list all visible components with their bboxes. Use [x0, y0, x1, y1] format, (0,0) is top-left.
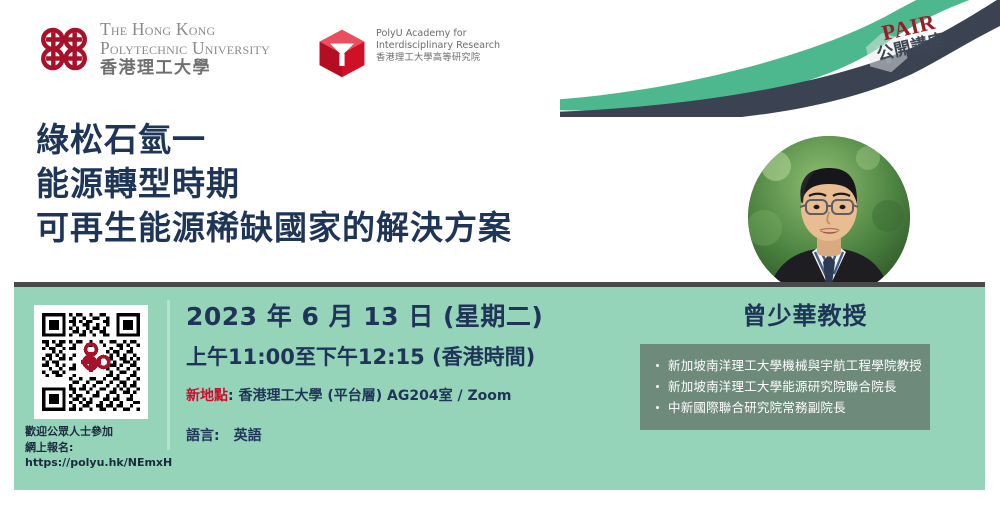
pair-academy-text: PolyU Academy for Interdisciplinary Rese…: [376, 28, 506, 63]
speaker-credential-item: 新加坡南洋理工大學能源研究院聯合院長: [654, 376, 920, 397]
title-line-3: 可再生能源稀缺國家的解決方案: [36, 206, 636, 250]
title-line-1: 綠松石氫一: [36, 118, 636, 162]
speaker-credential-item: 中新國際聯合研究院常務副院長: [654, 397, 920, 418]
polyu-logo-text: The Hong Kong Polytechnic University 香港理…: [100, 20, 300, 79]
pair-academy-line1: PolyU Academy for: [376, 28, 506, 40]
registration-caption: 歡迎公眾人士參加 網上報名: https://polyu.hk/NEmxH: [25, 424, 175, 471]
polyu-logo: The Hong Kong Polytechnic University 香港理…: [36, 20, 298, 80]
event-language: 語言:英語: [186, 426, 626, 446]
venue-label: 新地點: [186, 388, 228, 404]
speaker-portrait-illustration: [748, 136, 910, 298]
venue-separator: :: [228, 388, 234, 404]
polyu-knot-icon: [36, 22, 92, 76]
pair-academy-logo: PolyU Academy for Interdisciplinary Rese…: [316, 26, 496, 82]
speaker-credentials-list: 新加坡南洋理工大學機械與宇航工程學院教授 新加坡南洋理工大學能源研究院聯合院長 …: [654, 355, 920, 418]
event-time: 上午11:00至下午12:15 (香港時間): [186, 342, 626, 372]
pair-lecture-badge: PAIR 公開講座: [852, 1, 983, 90]
registration-welcome-text: 歡迎公眾人士參加: [25, 424, 175, 440]
pair-academy-line3: 香港理工大學高等研究院: [376, 51, 506, 63]
event-date: 2023 年 6 月 13 日 (星期二): [186, 300, 626, 334]
speaker-info: 曾少華教授 新加坡南洋理工大學機械與宇航工程學院教授 新加坡南洋理工大學能源研究…: [640, 300, 970, 430]
polyu-name-line1: The Hong Kong: [100, 20, 300, 39]
vertical-divider: [167, 300, 170, 450]
polyu-name-line2: Polytechnic University: [100, 39, 300, 58]
pair-academy-line2: Interdisciplinary Research: [376, 40, 506, 52]
title-line-2: 能源轉型時期: [36, 162, 636, 206]
registration-qr-code[interactable]: [34, 305, 148, 419]
speaker-credentials-box: 新加坡南洋理工大學機械與宇航工程學院教授 新加坡南洋理工大學能源研究院聯合院長 …: [640, 344, 930, 430]
lecture-title: 綠松石氫一 能源轉型時期 可再生能源稀缺國家的解決方案: [36, 118, 636, 250]
pair-cube-icon: [316, 28, 368, 78]
language-value: 英語: [234, 428, 262, 444]
speaker-photo: [748, 136, 910, 298]
poster-canvas: The Hong Kong Polytechnic University 香港理…: [0, 0, 1000, 525]
speaker-name: 曾少華教授: [640, 300, 970, 332]
qr-code-icon: [42, 313, 140, 411]
speaker-credential-item: 新加坡南洋理工大學機械與宇航工程學院教授: [654, 355, 920, 376]
event-venue: 新地點: 香港理工大學 (平台層) AG204室 / Zoom: [186, 386, 626, 406]
event-details: 2023 年 6 月 13 日 (星期二) 上午11:00至下午12:15 (香…: [186, 300, 626, 446]
language-label: 語言:: [186, 428, 220, 444]
venue-value: 香港理工大學 (平台層) AG204室 / Zoom: [238, 388, 511, 404]
registration-url[interactable]: https://polyu.hk/NEmxH: [25, 455, 175, 471]
polyu-name-chinese: 香港理工大學: [100, 58, 300, 79]
registration-signup-label: 網上報名:: [25, 440, 175, 456]
